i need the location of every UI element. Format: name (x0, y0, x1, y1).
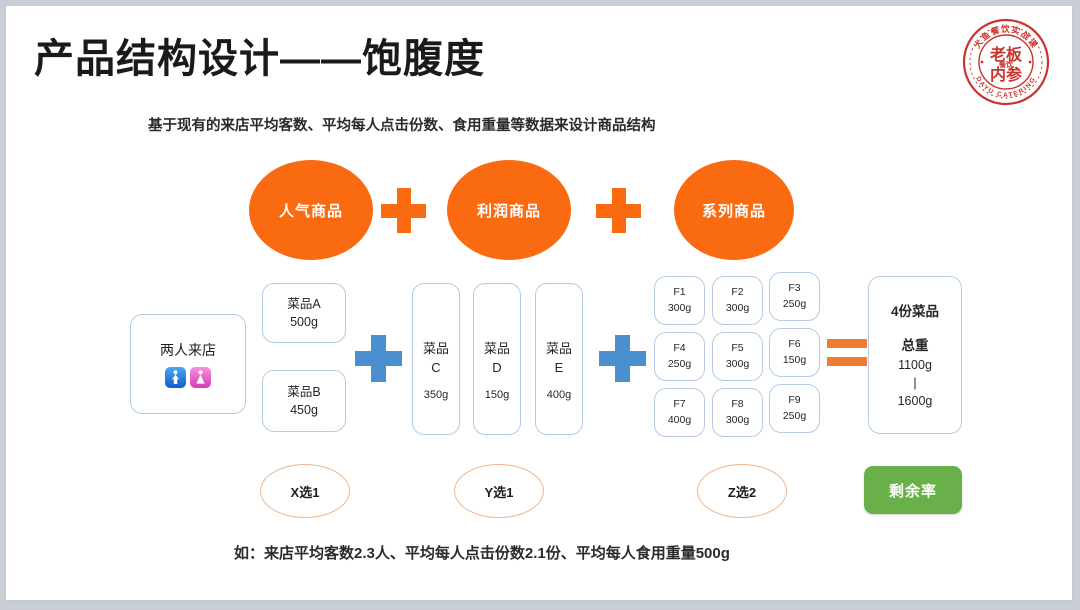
page-title: 产品结构设计——饱腹度 (34, 26, 485, 84)
row-plus-1 (355, 335, 402, 382)
dish-name: F1 (673, 285, 685, 301)
dish-label-group: 菜品 E (546, 340, 572, 378)
dish-letter: D (484, 359, 510, 378)
dish-name: F5 (731, 341, 743, 357)
svg-text:内参: 内参 (990, 65, 1023, 84)
dish-box-d[interactable]: 菜品 D 150g (473, 283, 521, 435)
dish-box-f9[interactable]: F9 250g (769, 384, 820, 433)
slide-canvas: 产品结构设计——饱腹度 基于现有的来店平均客数、平均每人点击份数、食用重量等数据… (6, 6, 1072, 600)
dish-box-f7[interactable]: F7 400g (654, 388, 705, 437)
dish-name: F2 (731, 285, 743, 301)
store-visitors-box[interactable]: 两人来店 (130, 314, 246, 414)
dish-box-f4[interactable]: F4 250g (654, 332, 705, 381)
dish-box-f8[interactable]: F8 300g (712, 388, 763, 437)
top-plus-1 (381, 188, 426, 233)
dish-box-f6[interactable]: F6 150g (769, 328, 820, 377)
pick-label: Z选2 (728, 482, 756, 501)
pick-ellipse-y[interactable]: Y选1 (454, 464, 544, 518)
dish-box-f3[interactable]: F3 250g (769, 272, 820, 321)
dish-weight: 500g (290, 313, 318, 331)
dish-letter: C (423, 359, 449, 378)
dish-box-a[interactable]: 菜品A 500g (262, 283, 346, 343)
dish-weight: 250g (668, 357, 691, 373)
dish-weight: 450g (290, 401, 318, 419)
remaining-rate-label: 剩余率 (889, 480, 937, 501)
result-total-box[interactable]: 4份菜品 总重 1100g | 1600g (868, 276, 962, 434)
dish-weight: 150g (783, 353, 806, 369)
female-person-icon (190, 367, 211, 388)
dish-name: F8 (731, 397, 743, 413)
page-subtitle: 基于现有的来店平均客数、平均每人点击份数、食用重量等数据来设计商品结构 (148, 114, 656, 135)
dish-name: 菜品 (484, 340, 510, 359)
dish-weight: 400g (547, 389, 571, 401)
dish-box-f2[interactable]: F2 300g (712, 276, 763, 325)
dish-box-c[interactable]: 菜品 C 350g (412, 283, 460, 435)
dish-name: F6 (788, 337, 800, 353)
category-circle-profit[interactable]: 利润商品 (447, 160, 571, 260)
result-total-label: 总重 (902, 336, 929, 356)
category-label: 人气商品 (279, 200, 343, 221)
result-weight-max: 1600g (898, 392, 933, 410)
dish-box-e[interactable]: 菜品 E 400g (535, 283, 583, 435)
visitor-icons (165, 367, 211, 388)
row-plus-2 (599, 335, 646, 382)
dish-weight: 250g (783, 297, 806, 313)
top-plus-2 (596, 188, 641, 233)
page-caption: 如：来店平均客数2.3人、平均每人点击份数2.1份、平均每人食用重量500g (234, 542, 730, 563)
pick-label: X选1 (291, 482, 320, 501)
dish-name: 菜品 (546, 340, 572, 359)
category-circle-popular[interactable]: 人气商品 (249, 160, 373, 260)
result-range-separator: | (913, 374, 916, 392)
dish-name: F9 (788, 393, 800, 409)
dish-weight: 400g (668, 413, 691, 429)
dish-name: 菜品A (287, 295, 320, 313)
dish-box-f1[interactable]: F1 300g (654, 276, 705, 325)
pick-ellipse-z[interactable]: Z选2 (697, 464, 787, 518)
category-circle-series[interactable]: 系列商品 (674, 160, 794, 260)
dish-name: 菜品B (287, 383, 320, 401)
dish-weight: 150g (485, 389, 509, 401)
dish-letter: E (546, 359, 572, 378)
dish-name: F4 (673, 341, 685, 357)
dish-weight: 350g (424, 389, 448, 401)
dish-label-group: 菜品 C (423, 340, 449, 378)
store-visitors-label: 两人来店 (160, 340, 216, 360)
dish-name: F7 (673, 397, 685, 413)
remaining-rate-button[interactable]: 剩余率 (864, 466, 962, 514)
equals-sign (827, 339, 867, 369)
dish-name: F3 (788, 281, 800, 297)
dayu-catering-logo: 大鱼餐饮实战课 DAYU CATERING 老板 餐饮 内参 (960, 16, 1052, 108)
result-weight-min: 1100g (898, 356, 932, 374)
dish-weight: 250g (783, 409, 806, 425)
category-label: 系列商品 (702, 200, 766, 221)
dish-weight: 300g (726, 357, 749, 373)
pick-ellipse-x[interactable]: X选1 (260, 464, 350, 518)
dish-box-f5[interactable]: F5 300g (712, 332, 763, 381)
dish-weight: 300g (726, 413, 749, 429)
dish-box-b[interactable]: 菜品B 450g (262, 370, 346, 432)
dish-weight: 300g (668, 301, 691, 317)
result-portion-count: 4份菜品 (891, 300, 939, 320)
dish-weight: 300g (726, 301, 749, 317)
pick-label: Y选1 (485, 482, 514, 501)
category-label: 利润商品 (477, 200, 541, 221)
male-person-icon (165, 367, 186, 388)
dish-label-group: 菜品 D (484, 340, 510, 378)
dish-name: 菜品 (423, 340, 449, 359)
